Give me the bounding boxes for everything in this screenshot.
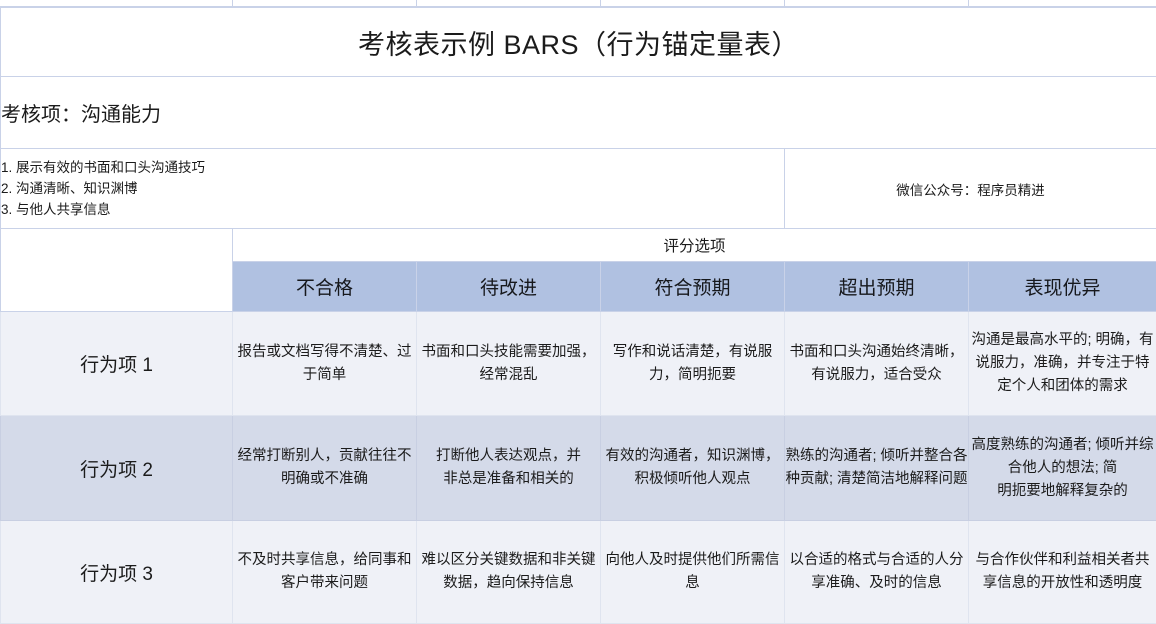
- title-row: 考核表示例 BARS（行为锚定量表）: [1, 8, 1156, 77]
- behavior-definition-list: 1. 展示有效的书面和口头沟通技巧 2. 沟通清晰、知识渊博 3. 与他人共享信…: [1, 149, 785, 229]
- grid-cell: [232, 0, 416, 7]
- table-cell: 书面和口头技能需要加强，经常混乱: [417, 312, 601, 416]
- level-header-5: 表现优异: [969, 262, 1156, 312]
- level-header-4: 超出预期: [785, 262, 969, 312]
- bars-evaluation-table: 考核表示例 BARS（行为锚定量表） 考核项：沟通能力 1. 展示有效的书面和口…: [0, 7, 1156, 624]
- table-cell: 以合适的格式与合适的人分享准确、及时的信息: [785, 521, 969, 624]
- table-cell: 沟通是最高水平的; 明确，有说服力，准确，并专注于特定个人和团体的需求: [969, 312, 1156, 416]
- wechat-credit: 微信公众号：程序员精进: [785, 149, 1156, 229]
- behavior-row-label: 行为项 1: [1, 312, 233, 416]
- spreadsheet-canvas: 考核表示例 BARS（行为锚定量表） 考核项：沟通能力 1. 展示有效的书面和口…: [0, 0, 1156, 623]
- table-cell: 有效的沟通者，知识渊博，积极倾听他人观点: [601, 416, 785, 521]
- corner-blank-cell: [1, 229, 233, 312]
- table-cell: 写作和说话清楚，有说服力，简明扼要: [601, 312, 785, 416]
- notes-list: 1. 展示有效的书面和口头沟通技巧 2. 沟通清晰、知识渊博 3. 与他人共享信…: [1, 157, 784, 220]
- assessment-item-row: 考核项：沟通能力: [1, 77, 1156, 149]
- assessment-item-label: 考核项：沟通能力: [1, 77, 1156, 149]
- table-cell: 与合作伙伴和利益相关者共享信息的开放性和透明度: [969, 521, 1156, 624]
- level-header-3: 符合预期: [601, 262, 785, 312]
- table-cell: 向他人及时提供他们所需信息: [601, 521, 785, 624]
- table-cell: 书面和口头沟通始终清晰，有说服力，适合受众: [785, 312, 969, 416]
- level-header-2: 待改进: [417, 262, 601, 312]
- table-cell: 难以区分关键数据和非关键数据，趋向保持信息: [417, 521, 601, 624]
- notes-row: 1. 展示有效的书面和口头沟通技巧 2. 沟通清晰、知识渊博 3. 与他人共享信…: [1, 149, 1156, 229]
- table-cell: 高度熟练的沟通者; 倾听并综合他人的想法; 简明扼要地解释复杂的: [969, 416, 1156, 521]
- spreadsheet-grid-strip: [0, 0, 1156, 7]
- table-cell: 不及时共享信息，给同事和客户带来问题: [233, 521, 417, 624]
- table-row: 行为项 1 报告或文档写得不清楚、过于简单 书面和口头技能需要加强，经常混乱 写…: [1, 312, 1156, 416]
- grid-cell: [784, 0, 968, 7]
- list-item: 1. 展示有效的书面和口头沟通技巧: [1, 157, 784, 178]
- level-header-1: 不合格: [233, 262, 417, 312]
- table-cell: 打断他人表达观点，并非总是准备和相关的: [417, 416, 601, 521]
- behavior-row-label: 行为项 3: [1, 521, 233, 624]
- grid-cell: [416, 0, 600, 7]
- behavior-row-label: 行为项 2: [1, 416, 233, 521]
- grid-cell: [600, 0, 784, 7]
- options-banner-row: 评分选项: [1, 229, 1156, 262]
- table-cell: 熟练的沟通者; 倾听并整合各种贡献; 清楚简洁地解释问题: [785, 416, 969, 521]
- list-item: 3. 与他人共享信息: [1, 199, 784, 220]
- page-title: 考核表示例 BARS（行为锚定量表）: [1, 8, 1156, 77]
- table-row: 行为项 2 经常打断别人，贡献往往不明确或不准确 打断他人表达观点，并非总是准备…: [1, 416, 1156, 521]
- table-cell: 报告或文档写得不清楚、过于简单: [233, 312, 417, 416]
- options-header: 评分选项: [233, 229, 1156, 262]
- list-item: 2. 沟通清晰、知识渊博: [1, 178, 784, 199]
- grid-cell: [968, 0, 1156, 7]
- table-cell: 经常打断别人，贡献往往不明确或不准确: [233, 416, 417, 521]
- table-row: 行为项 3 不及时共享信息，给同事和客户带来问题 难以区分关键数据和非关键数据，…: [1, 521, 1156, 624]
